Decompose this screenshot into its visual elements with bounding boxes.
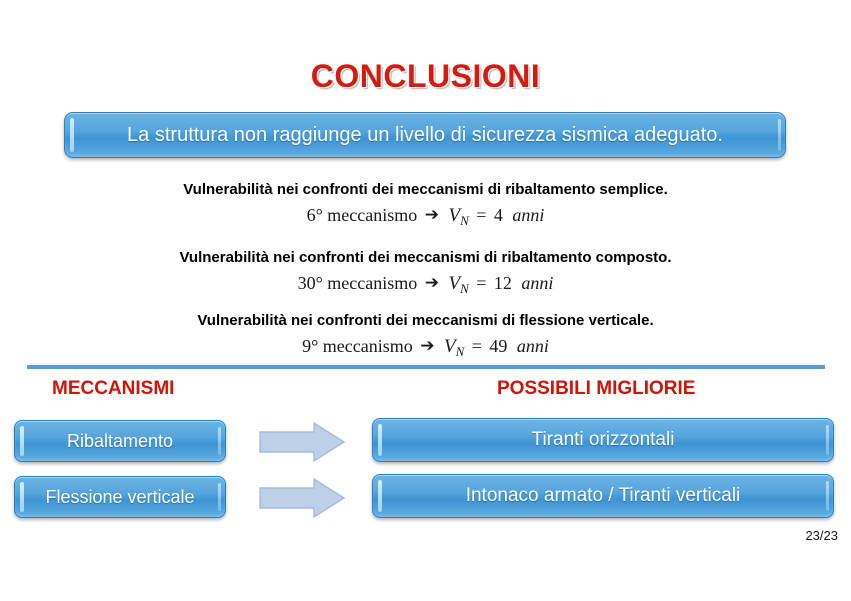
- value-number: 12: [494, 273, 512, 293]
- page-number: 23/23: [805, 528, 838, 543]
- right-arrow-icon: ➔: [417, 336, 439, 356]
- variable-subscript: N: [460, 213, 469, 228]
- improvement-box-intonaco-armato[interactable]: Intonaco armato / Tiranti verticali: [372, 474, 834, 518]
- value-number: 49: [489, 336, 507, 356]
- horizontal-divider: [27, 365, 825, 369]
- equals-sign: =: [473, 273, 489, 293]
- value-unit: anni: [507, 205, 544, 225]
- variable-letter: V: [449, 205, 461, 226]
- mechanism-label: 9° meccanismo: [302, 336, 413, 356]
- slide-canvas: CONCLUSIONI La struttura non raggiunge u…: [0, 0, 851, 601]
- value-unit: anni: [516, 273, 553, 293]
- mechanism-box-flessione-verticale[interactable]: Flessione verticale: [14, 476, 226, 518]
- variable-letter: V: [449, 273, 461, 294]
- improvement-box-label: Intonaco armato / Tiranti verticali: [466, 485, 741, 507]
- statement-formula: 30° meccanismo ➔ VN = 12 anni: [0, 273, 851, 295]
- statement-heading: Vulnerabilità nei confronti dei meccanis…: [0, 249, 851, 266]
- statement-formula: 9° meccanismo ➔ VN = 49 anni: [0, 336, 851, 358]
- page-title: CONCLUSIONI: [0, 58, 851, 95]
- variable-subscript: N: [456, 344, 465, 359]
- statement-heading: Vulnerabilità nei confronti dei meccanis…: [0, 181, 851, 198]
- statement-block-2: Vulnerabilità nei confronti dei meccanis…: [0, 249, 851, 295]
- value-unit: anni: [512, 336, 549, 356]
- improvement-box-label: Tiranti orizzontali: [532, 429, 675, 451]
- variable-subscript: N: [460, 281, 469, 296]
- mechanism-label: 30° meccanismo: [298, 273, 418, 293]
- right-arrow-icon: [258, 477, 346, 519]
- variable-symbol: VN: [444, 336, 464, 357]
- right-arrow-icon: ➔: [422, 205, 444, 225]
- value-number: 4: [494, 205, 503, 225]
- statement-block-1: Vulnerabilità nei confronti dei meccanis…: [0, 181, 851, 227]
- headline-banner-label: La struttura non raggiunge un livello di…: [127, 124, 723, 147]
- section-header-mechanisms: MECCANISMI: [52, 378, 174, 400]
- mechanism-label: 6° meccanismo: [307, 205, 418, 225]
- right-arrow-icon: [258, 421, 346, 463]
- mechanism-box-label: Ribaltamento: [67, 431, 173, 452]
- equals-sign: =: [469, 336, 485, 356]
- equals-sign: =: [473, 205, 489, 225]
- statement-formula: 6° meccanismo ➔ VN = 4 anni: [0, 205, 851, 227]
- statement-heading: Vulnerabilità nei confronti dei meccanis…: [0, 312, 851, 329]
- right-arrow-icon: ➔: [422, 273, 444, 293]
- mechanism-box-label: Flessione verticale: [45, 487, 194, 508]
- variable-symbol: VN: [449, 205, 469, 226]
- mechanism-box-ribaltamento[interactable]: Ribaltamento: [14, 420, 226, 462]
- variable-letter: V: [444, 336, 456, 357]
- statement-block-3: Vulnerabilità nei confronti dei meccanis…: [0, 312, 851, 358]
- section-header-improvements: POSSIBILI MIGLIORIE: [497, 378, 695, 400]
- improvement-box-tiranti-orizzontali[interactable]: Tiranti orizzontali: [372, 418, 834, 462]
- headline-banner: La struttura non raggiunge un livello di…: [64, 112, 786, 158]
- variable-symbol: VN: [449, 273, 469, 294]
